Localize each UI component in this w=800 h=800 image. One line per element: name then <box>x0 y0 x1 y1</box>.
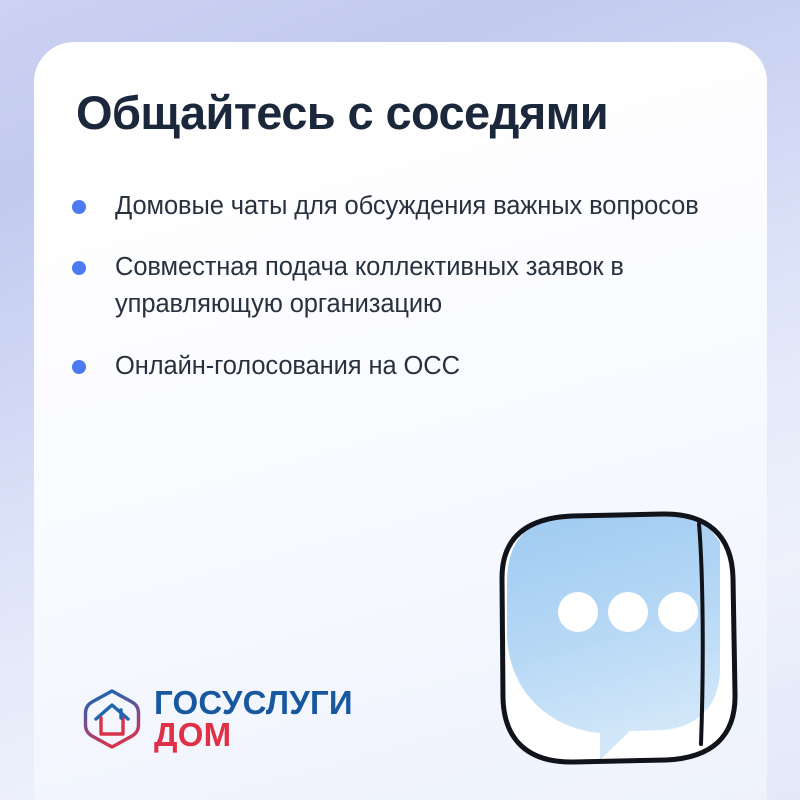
list-item-label: Домовые чаты для обсуждения важных вопро… <box>115 192 699 220</box>
page-title: Общайтесь с соседями <box>76 87 716 140</box>
list-item: Онлайн-голосования на ОСС <box>68 348 728 385</box>
feature-bullet-list: Домовые чаты для обсуждения важных вопро… <box>68 188 728 385</box>
list-item-label: Онлайн-голосования на ОСС <box>115 352 460 380</box>
list-item: Домовые чаты для обсуждения важных вопро… <box>68 188 728 225</box>
list-item: Совместная подача коллективных заявок в … <box>68 249 728 323</box>
logo-wordmark: ГОСУСЛУГИ ДОМ <box>154 687 353 752</box>
chat-bubble-illustration <box>450 482 767 782</box>
content-card: Общайтесь с соседями Домовые чаты для об… <box>34 42 767 800</box>
logo-line-dom: ДОМ <box>154 719 353 751</box>
bullet-dot-icon <box>72 360 86 374</box>
bullet-dot-icon <box>72 261 86 275</box>
list-item-label: Совместная подача коллективных заявок в … <box>115 253 624 318</box>
gosuslugi-dom-logo: ГОСУСЛУГИ ДОМ <box>82 687 353 752</box>
logo-line-gosuslugi: ГОСУСЛУГИ <box>154 687 353 719</box>
house-hexagon-icon <box>82 688 142 750</box>
bullet-dot-icon <box>72 200 86 214</box>
